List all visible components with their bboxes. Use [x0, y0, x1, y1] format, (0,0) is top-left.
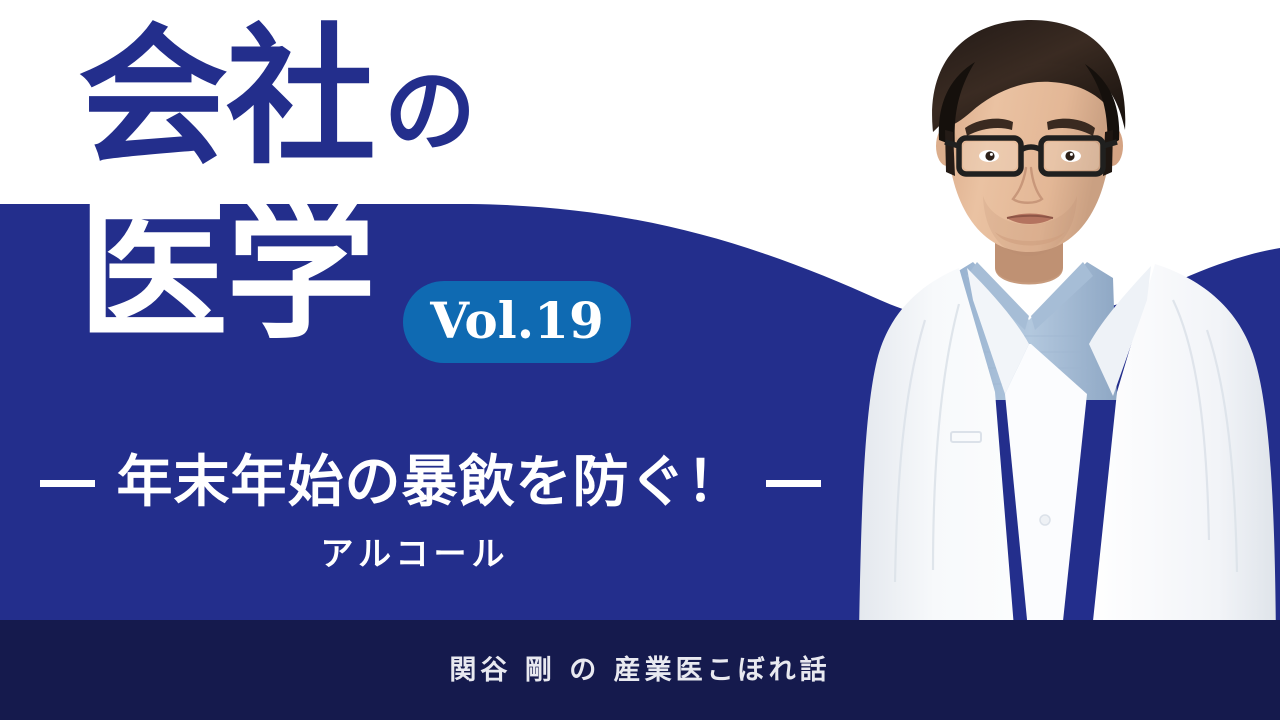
episode-title: 年末年始の暴飲を防ぐ！ [95, 455, 766, 511]
doctor-portrait [855, 0, 1280, 640]
footer-bar: 関谷 剛 の 産業医こぼれ話 [0, 620, 1280, 720]
volume-badge[interactable]: Vol.19 [403, 281, 631, 363]
series-title-particle: の [384, 58, 476, 165]
volume-badge-label: Vol.19 [430, 296, 604, 349]
footer-byline: 関谷 剛 の 産業医こぼれ話 [449, 657, 830, 684]
poster-canvas: 会社の 医学 Vol.19 年末年始の暴飲を防ぐ！ アルコール 関谷 剛 の 産… [0, 0, 1280, 720]
left-rule-dash [40, 480, 95, 487]
episode-topic-label: アルコール [0, 537, 830, 570]
doctor-portrait-illustration [855, 0, 1280, 640]
episode-title-row: 年末年始の暴飲を防ぐ！ [0, 455, 860, 511]
series-title-line-1: 会社の [78, 26, 778, 186]
series-title-kaisha: 会社 [78, 11, 374, 185]
series-title-block: 会社の 医学 [78, 26, 778, 186]
series-title-line-2: 医学 [78, 201, 374, 361]
right-rule-dash [766, 480, 821, 487]
